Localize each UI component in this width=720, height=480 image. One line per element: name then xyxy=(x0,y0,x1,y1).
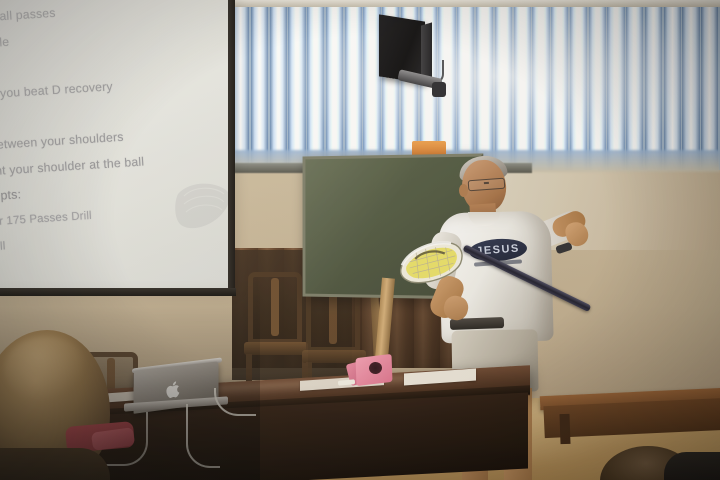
blind-slat xyxy=(570,0,587,170)
blind-slat xyxy=(701,0,718,170)
presenter-ear xyxy=(459,184,468,197)
blind-slat xyxy=(532,0,549,170)
blind-slat xyxy=(495,0,512,170)
blind-slat xyxy=(589,0,606,170)
blind-slat xyxy=(682,0,699,170)
chair-slat xyxy=(271,278,279,336)
speaker-wall-bracket xyxy=(432,82,446,97)
slide-lacrosse-watermark-icon xyxy=(172,178,234,240)
blind-slat xyxy=(457,0,474,170)
blind-slat xyxy=(270,0,287,170)
screen-frame-bottom xyxy=(0,288,236,296)
blind-slat xyxy=(476,0,493,170)
blind-slat xyxy=(514,0,531,170)
blind-slat xyxy=(664,0,681,170)
blind-slat xyxy=(288,0,305,170)
blind-slat xyxy=(607,0,624,170)
screen-frame-right xyxy=(228,0,235,296)
slide-text-block: hands to receive all passeswhenever poss… xyxy=(0,0,241,317)
blind-slat xyxy=(251,0,268,170)
blind-slat xyxy=(326,0,343,170)
window-blinds[interactable] xyxy=(232,0,720,170)
blind-slat xyxy=(645,0,662,170)
foreground-hair-highlight xyxy=(4,336,88,402)
blind-slat xyxy=(626,0,643,170)
apple-logo-icon xyxy=(166,380,181,399)
bench-leg xyxy=(559,414,570,444)
photo-scene: JESUS han xyxy=(0,0,720,480)
blind-slat xyxy=(345,0,362,170)
attendee-shoulder-lower-right xyxy=(664,452,720,480)
blind-slat xyxy=(551,0,568,170)
blind-slat xyxy=(307,0,324,170)
blinds-head-rail xyxy=(232,0,720,7)
power-cable xyxy=(186,404,220,468)
chair-seat xyxy=(244,342,308,355)
projection-screen: hands to receive all passeswhenever poss… xyxy=(0,0,234,292)
foreground-attendee-shoulder xyxy=(0,448,110,480)
